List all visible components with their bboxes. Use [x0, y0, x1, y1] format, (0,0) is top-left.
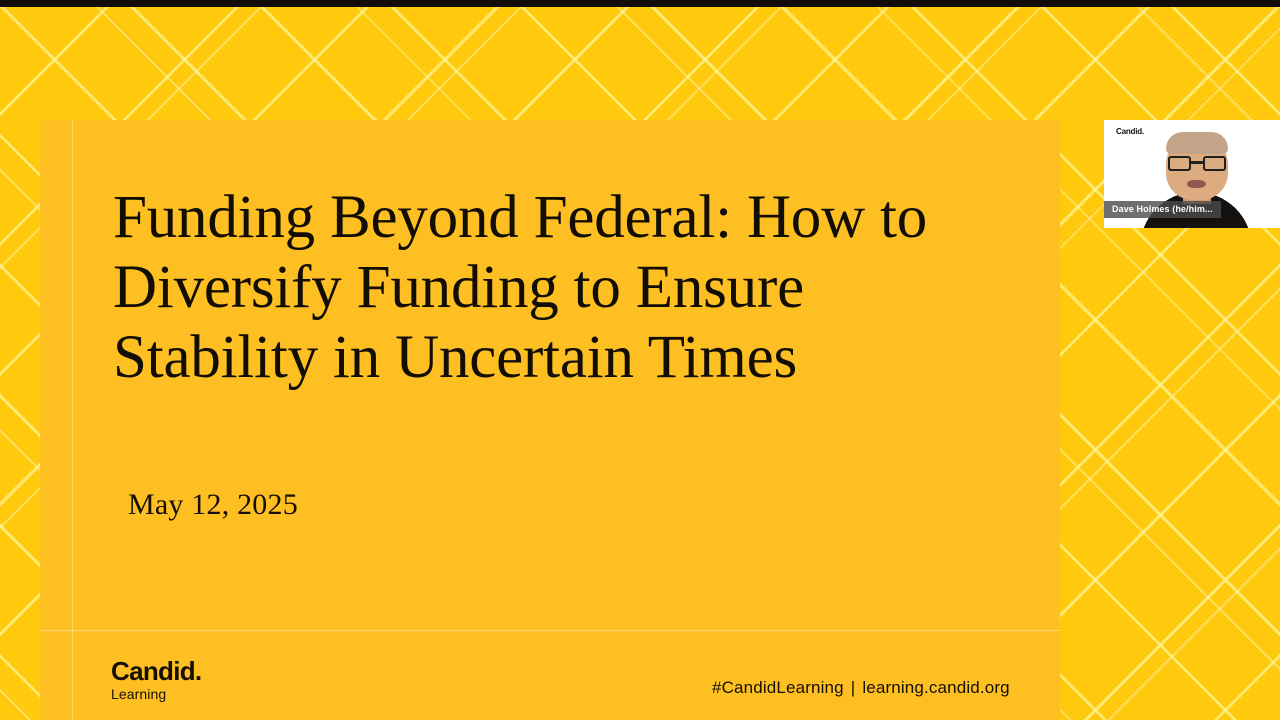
eyeglass-lens-left: [1168, 156, 1191, 171]
footer-separator: |: [844, 678, 863, 697]
slide-card: Funding Beyond Federal: How to Diversify…: [40, 120, 1060, 720]
participant-name-label: Dave Holmes (he/him...: [1104, 201, 1221, 218]
slide-footer: Candid. Learning #CandidLearning|learnin…: [40, 631, 1060, 720]
page-title: Funding Beyond Federal: How to Diversify…: [113, 183, 1013, 393]
webcam-brand-watermark: Candid.: [1116, 127, 1144, 136]
slide-date: May 12, 2025: [128, 488, 298, 522]
eyeglass-lens-right: [1203, 156, 1226, 171]
footer-hashtag: #CandidLearning: [712, 678, 844, 697]
candid-learning-sublabel: Learning: [111, 686, 201, 703]
candid-logo: Candid. Learning: [111, 658, 201, 703]
presentation-viewer: Funding Beyond Federal: How to Diversify…: [0, 0, 1280, 720]
candid-wordmark: Candid.: [111, 658, 201, 685]
footer-url[interactable]: learning.candid.org: [862, 678, 1009, 697]
footer-meta: #CandidLearning|learning.candid.org: [712, 678, 1010, 698]
webcam-video-tile[interactable]: Candid. Dave Holmes (he/him...: [1104, 120, 1280, 228]
eyeglasses-icon: [1168, 156, 1226, 171]
letterbox-top-bar: [0, 0, 1280, 7]
presenter-mouth: [1187, 180, 1206, 188]
presenter-hair: [1166, 132, 1228, 154]
eyeglass-bridge: [1191, 161, 1203, 164]
